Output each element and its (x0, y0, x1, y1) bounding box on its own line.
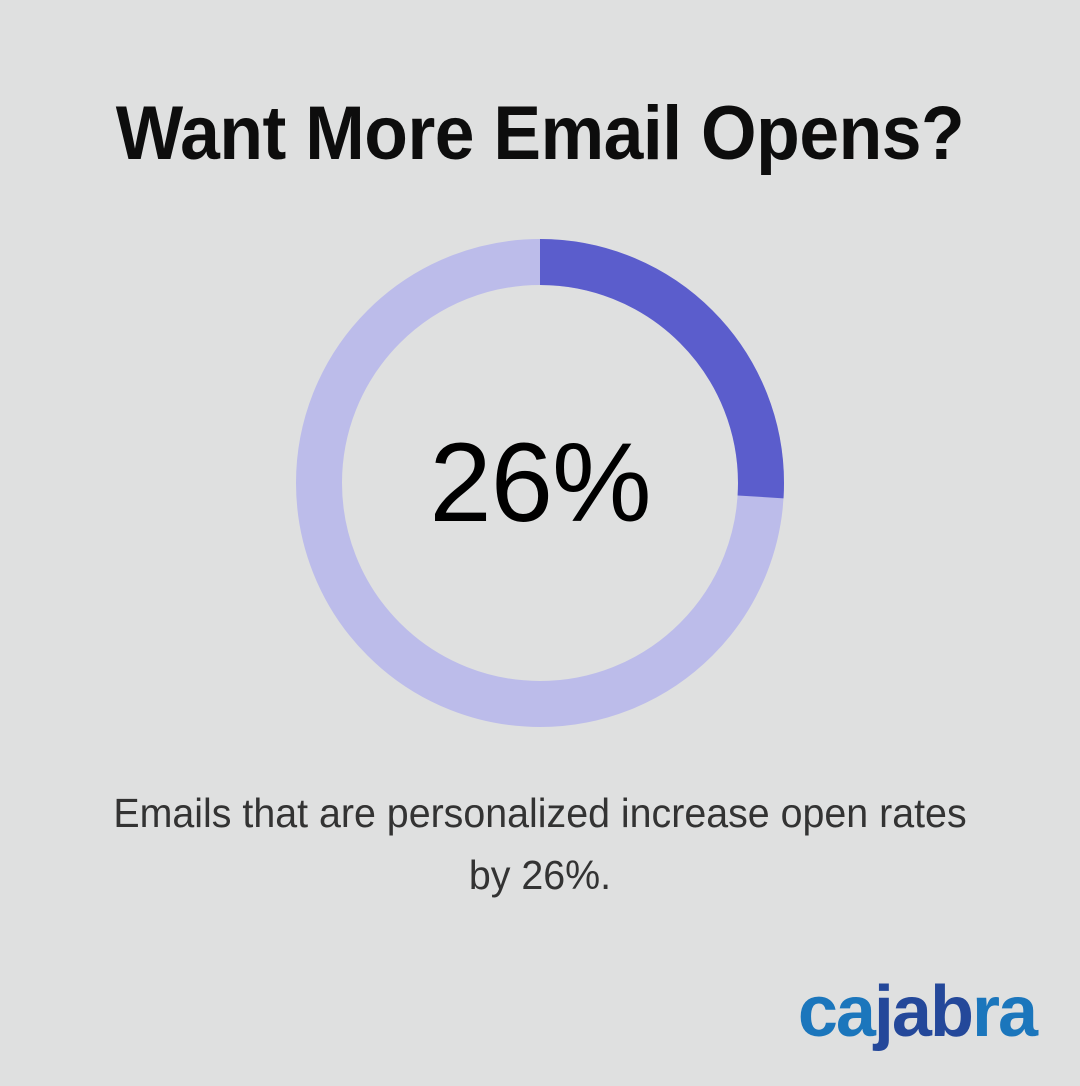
donut-chart: 26% (296, 239, 784, 727)
page-title: Want More Email Opens? (32, 96, 1047, 172)
logo-part-ca: ca (798, 972, 874, 1052)
logo-part-ra: ra (972, 972, 1036, 1052)
infographic-card: Want More Email Opens? 26% Emails that a… (0, 0, 1080, 1086)
cajabra-logo: cajabra (798, 976, 1036, 1048)
donut-center-value: 26% (296, 239, 784, 727)
caption-text: Emails that are personalized increase op… (89, 782, 991, 907)
logo-part-jab: jab (874, 972, 972, 1052)
